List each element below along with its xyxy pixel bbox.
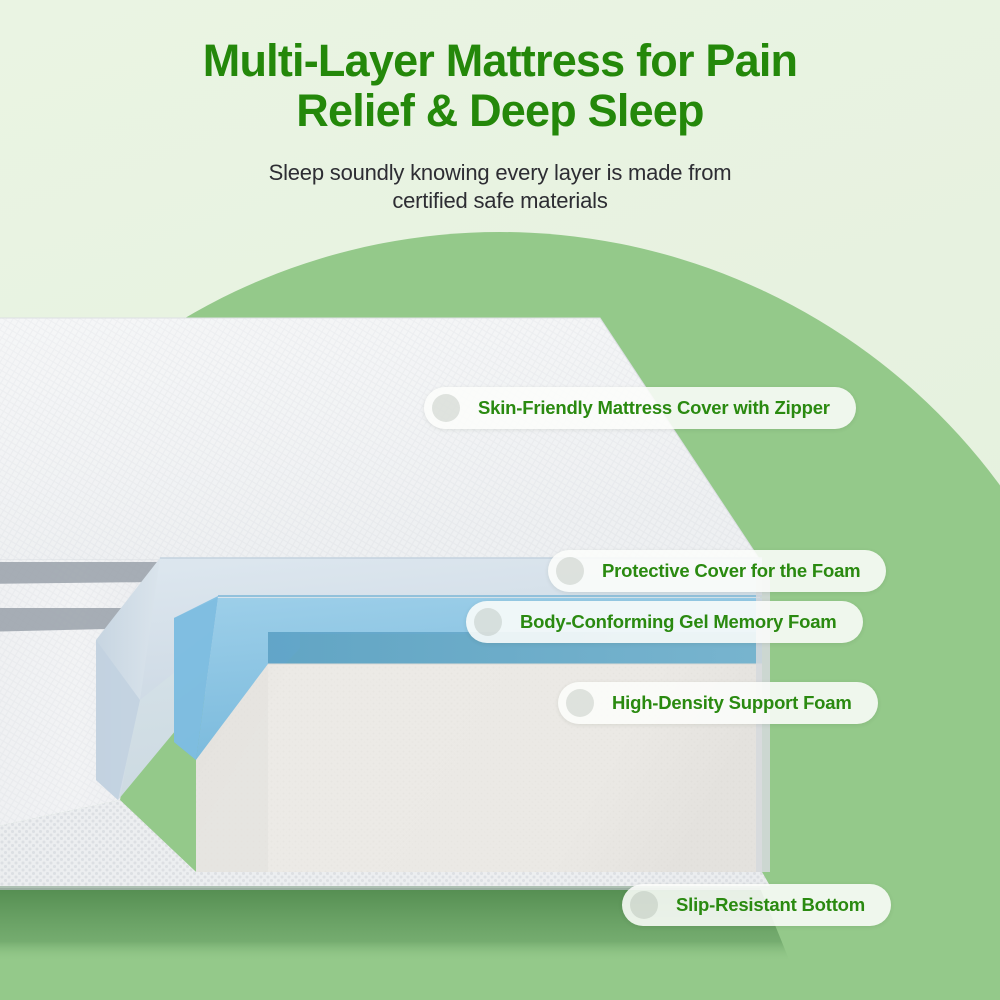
label-text: Body-Conforming Gel Memory Foam <box>520 611 837 633</box>
layer-cover-top <box>0 318 760 560</box>
bullet-dot-icon <box>432 394 460 422</box>
label-text: Protective Cover for the Foam <box>602 560 860 582</box>
page-subtitle: Sleep soundly knowing every layer is mad… <box>0 159 1000 214</box>
label-skin-friendly-cover[interactable]: Skin-Friendly Mattress Cover with Zipper <box>424 387 856 429</box>
label-text: Skin-Friendly Mattress Cover with Zipper <box>478 397 830 419</box>
header-block: Multi-Layer Mattress for Pain Relief & D… <box>0 36 1000 214</box>
bullet-dot-icon <box>474 608 502 636</box>
bullet-dot-icon <box>556 557 584 585</box>
page-title-line-1: Multi-Layer Mattress for Pain <box>0 36 1000 86</box>
label-text: High-Density Support Foam <box>612 692 852 714</box>
page-title: Multi-Layer Mattress for Pain Relief & D… <box>0 36 1000 137</box>
page-title-line-2: Relief & Deep Sleep <box>0 86 1000 136</box>
page-subtitle-line-1: Sleep soundly knowing every layer is mad… <box>0 159 1000 187</box>
label-protective-cover[interactable]: Protective Cover for the Foam <box>548 550 886 592</box>
infographic-canvas: Multi-Layer Mattress for Pain Relief & D… <box>0 0 1000 1000</box>
label-slip-resistant-bottom[interactable]: Slip-Resistant Bottom <box>622 884 891 926</box>
label-gel-memory-foam[interactable]: Body-Conforming Gel Memory Foam <box>466 601 863 643</box>
page-subtitle-line-2: certified safe materials <box>0 187 1000 215</box>
bullet-dot-icon <box>630 891 658 919</box>
label-text: Slip-Resistant Bottom <box>676 894 865 916</box>
label-support-foam[interactable]: High-Density Support Foam <box>558 682 878 724</box>
bullet-dot-icon <box>566 689 594 717</box>
